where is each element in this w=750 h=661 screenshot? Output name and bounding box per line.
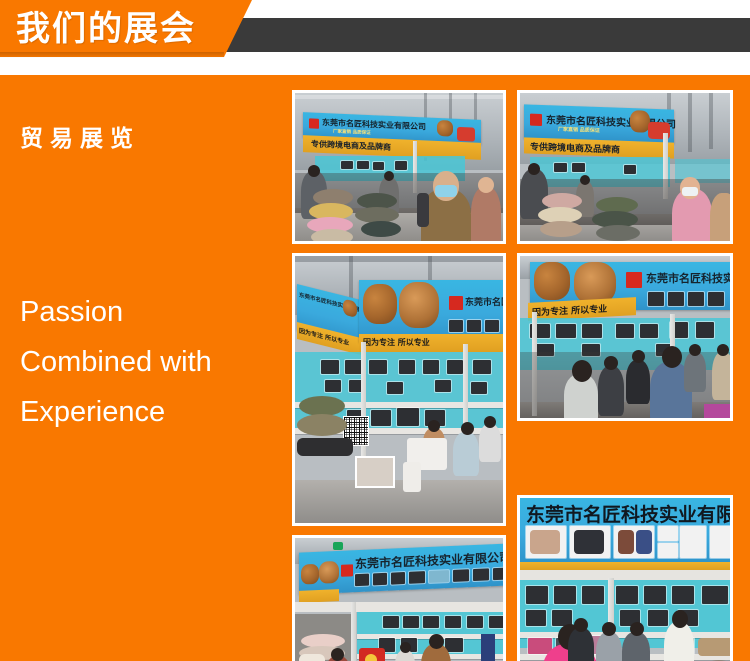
product-photo <box>391 572 405 585</box>
company-logo-icon <box>449 296 463 310</box>
product-photo <box>556 324 576 338</box>
left-text-column: 贸易展览 Passion Combined with Experience <box>20 75 280 661</box>
product-photo <box>658 526 678 541</box>
product-photo <box>355 574 369 587</box>
tagline-line-3: Experience <box>20 387 276 437</box>
product-photo <box>373 573 387 586</box>
header-ribbon-shadow <box>0 52 224 58</box>
tagline-line-1: Passion <box>20 287 276 337</box>
visitor-head <box>572 360 592 382</box>
booth-banner-blue: 东莞市名匠科技实业有限公司 <box>520 498 730 564</box>
visitor <box>712 352 730 400</box>
product-photo <box>668 292 684 306</box>
exit-sign-icon <box>333 542 343 550</box>
visitor-head <box>717 344 729 356</box>
visitor-head <box>484 416 496 428</box>
product-photo <box>696 322 714 338</box>
section-subtitle: 贸易展览 <box>20 119 140 153</box>
visitor <box>710 193 730 241</box>
product-photo <box>341 161 353 169</box>
booth-banner-yellow <box>520 562 730 570</box>
product-photo <box>648 610 668 626</box>
visitor-head <box>528 163 540 175</box>
visitor-head <box>630 622 644 636</box>
pet-bed-product <box>299 396 345 416</box>
product-photo <box>403 616 419 628</box>
product-photo <box>447 360 463 374</box>
product-photo <box>471 382 487 394</box>
product-photo <box>616 586 638 604</box>
visitor <box>626 360 650 404</box>
company-logo-icon <box>309 118 319 128</box>
product-photo <box>383 616 399 628</box>
visitor <box>471 187 501 241</box>
company-logo-icon <box>626 272 642 288</box>
face-mask <box>435 185 457 197</box>
seated-visitor <box>453 432 479 476</box>
banner-slogan: 因为专注 所以专业 <box>363 337 430 348</box>
photo-scene: 东莞市名匠科技实业有限公司 因为专注 所以专业 <box>520 256 730 418</box>
product-photo <box>325 380 341 392</box>
dog-pet <box>299 654 325 661</box>
ceiling-beam <box>295 95 503 99</box>
visitor-head <box>384 171 394 181</box>
product-photo <box>710 526 730 558</box>
company-logo-icon <box>530 114 542 126</box>
product-photo <box>624 165 636 174</box>
booth-banner-blue: 东莞市名匠科技实业有限公司 <box>359 280 503 342</box>
visitor-head <box>672 610 688 628</box>
gallery-photo-booth-overview-left: 东莞市名匠科技实业有限公司 厂家直销 品质保证 专供跨境电商及品牌商 <box>292 90 506 244</box>
product-photo <box>526 586 548 604</box>
product-photo <box>399 360 415 374</box>
product-photo <box>708 292 724 306</box>
dog-mascot-icon <box>343 298 357 317</box>
gallery-photo-booth-wide: 东莞市名匠科技实业有限公司 <box>292 535 506 661</box>
product-photo <box>702 586 728 604</box>
visitor-head <box>574 618 588 632</box>
visitor-head <box>429 634 444 649</box>
floor-carpet <box>704 404 730 418</box>
page-title: 我们的展会 <box>16 7 196 51</box>
product-photo <box>572 163 585 172</box>
product-photo <box>582 586 604 604</box>
hall-floor <box>295 480 503 523</box>
product-photo <box>554 163 567 172</box>
tagline-block: Passion Combined with Experience <box>20 287 276 437</box>
pet-bed-product <box>698 638 730 656</box>
booth-banner-yellow <box>299 589 339 603</box>
product-photo <box>435 380 451 392</box>
product-photo <box>644 586 666 604</box>
booth-fascia <box>520 570 730 580</box>
visitor <box>568 628 594 661</box>
pet-bed-product <box>596 225 640 241</box>
staff-head <box>428 420 440 432</box>
photo-scene: 东莞市名匠科技实业有限公司 厂家直销 品质保证 专供跨境电商及品牌商 <box>520 93 730 241</box>
scooter-graphic <box>457 127 475 142</box>
visitor-head <box>604 356 618 370</box>
gallery-photo-booth-corner: 东莞市名匠科技实业有限公司 因为专注 所以专业 东莞市名匠科技实业有限公司 <box>292 253 506 526</box>
gallery-photo-booth-crowd: 东莞市名匠科技实业有限公司 因为专注 所以专业 <box>517 253 733 421</box>
pet-bed-product <box>311 229 353 241</box>
product-photo <box>672 586 694 604</box>
photo-scene: 东莞市名匠科技实业有限公司 因为专注 所以专业 东莞市名匠科技实业有限公司 <box>295 256 503 523</box>
booth-banner-yellow: 因为专注 所以专业 <box>359 334 503 352</box>
pet-bed-product <box>361 221 401 237</box>
dog-pet <box>403 462 421 492</box>
product-photo <box>526 610 546 626</box>
pet-bed-product <box>540 221 582 237</box>
product-photo <box>616 324 634 338</box>
tagline-line-2: Combined with <box>20 337 276 387</box>
product-photo <box>387 382 403 394</box>
ceiling-beam <box>295 256 503 262</box>
product-photo <box>493 567 503 580</box>
pet-bed-product <box>297 414 347 436</box>
product-photo <box>445 616 461 628</box>
header-dark-ribbon <box>200 18 750 52</box>
product-photo <box>357 161 369 169</box>
product-box <box>397 408 419 426</box>
product-photo <box>658 543 678 558</box>
ceiling-truss <box>688 93 692 152</box>
booth-banner-blue: 东莞市名匠科技实业有限公司 <box>299 543 503 594</box>
booth-pillar <box>351 602 356 661</box>
pet-bed-product <box>297 438 353 456</box>
visitor-head <box>602 622 616 636</box>
product-photo <box>489 616 503 628</box>
banner-company-name: 东莞市名匠科技实业有限公司 <box>646 270 730 286</box>
visitor-head <box>308 165 320 177</box>
dog-mascot-icon <box>437 120 453 137</box>
dog-mascot-icon <box>319 561 339 584</box>
product-graphic <box>365 654 377 661</box>
banner-slogan: 专供跨境电商及品牌商 <box>530 140 620 156</box>
visitor-head <box>662 346 682 368</box>
visitor-head <box>461 422 474 435</box>
dog-mascot-icon <box>363 284 397 324</box>
ceiling-truss <box>709 93 713 149</box>
product-photo <box>582 324 602 338</box>
visitor <box>598 366 624 416</box>
product-photo <box>453 569 469 582</box>
rolled-banner <box>481 634 495 661</box>
visitor-head <box>580 175 590 185</box>
dog-mascot-icon <box>630 110 650 133</box>
backpack-strap <box>417 193 429 227</box>
product-photo <box>369 360 387 374</box>
product-photo <box>423 616 439 628</box>
visitor <box>622 632 650 661</box>
product-photo <box>395 161 407 170</box>
visitor-head <box>632 350 645 363</box>
pet-carrier-product <box>574 530 604 554</box>
pet-carrier-product <box>636 530 652 554</box>
face-mask <box>682 187 698 196</box>
product-photo <box>554 586 576 604</box>
photo-scene: 东莞市名匠科技实业有限公司 厂家直销 品质保证 专供跨境电商及品牌商 <box>295 93 503 241</box>
cardboard-box <box>355 456 395 488</box>
product-photo <box>467 320 481 332</box>
product-photo <box>429 570 449 583</box>
dog-mascot-icon <box>534 262 570 300</box>
visitor <box>596 632 622 661</box>
visitor-head <box>478 177 494 193</box>
product-photo <box>423 360 439 374</box>
product-photo <box>373 162 384 170</box>
dog-mascot-icon <box>399 282 439 328</box>
page-header: 我们的展会 <box>0 0 750 75</box>
exhibition-showcase-page: 我们的展会 贸易展览 Passion Combined with Experie… <box>0 0 750 661</box>
pet-carrier-product <box>618 530 634 554</box>
pet-carrier-product <box>530 530 560 554</box>
visitor <box>684 352 706 392</box>
product-photo <box>449 320 463 332</box>
seated-visitor <box>479 424 501 462</box>
booth-fascia <box>295 602 503 612</box>
photo-scene: 东莞市名匠科技实业有限公司 <box>295 538 503 661</box>
visitor-head <box>689 344 701 356</box>
banner-slogan: 专供跨境电商及品牌商 <box>311 138 391 152</box>
product-photo <box>409 571 425 584</box>
product-photo <box>485 320 499 332</box>
gallery-photo-booth-interior: 东莞市名匠科技实业有限公司 <box>517 495 733 661</box>
product-photo <box>473 360 491 374</box>
product-photo <box>680 526 706 558</box>
content-panel: 贸易展览 Passion Combined with Experience 东莞… <box>0 75 750 661</box>
banner-company-name: 东莞市名匠科技实业有限公司 <box>526 500 730 527</box>
photo-scene: 东莞市名匠科技实业有限公司 <box>520 498 730 661</box>
product-photo <box>321 360 339 374</box>
dog-mascot-icon <box>301 564 319 585</box>
banner-subtext: 厂家直销 品质保证 <box>333 128 371 136</box>
product-photo <box>648 292 664 306</box>
product-photo <box>640 324 658 338</box>
product-photo <box>473 568 489 581</box>
banner-slogan: 因为专注 所以专业 <box>532 302 607 319</box>
banner-subtext: 厂家直销 品质保证 <box>558 126 600 134</box>
visitor-head <box>331 648 344 661</box>
banner-company-name: 东莞市名匠科技实业有限公司 <box>465 295 503 308</box>
company-logo-icon <box>341 564 353 577</box>
product-photo <box>688 292 704 306</box>
product-box <box>371 410 391 426</box>
visitor-head <box>400 642 411 653</box>
gallery-photo-booth-overview-right: 东莞市名匠科技实业有限公司 厂家直销 品质保证 专供跨境电商及品牌商 <box>517 90 733 244</box>
product-photo <box>467 616 483 628</box>
